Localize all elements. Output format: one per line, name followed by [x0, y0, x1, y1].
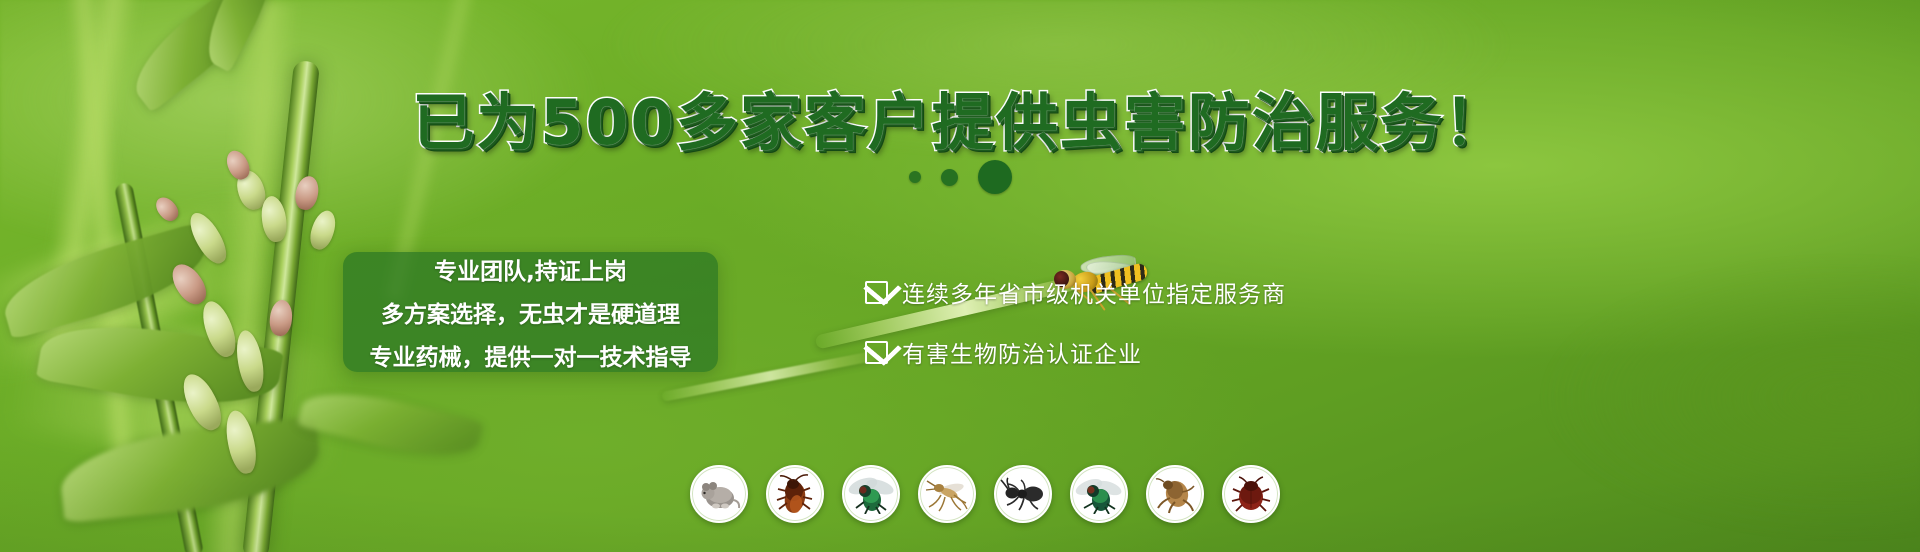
- pest-chip-cockroach[interactable]: [766, 465, 824, 523]
- ant-icon: [999, 476, 1047, 512]
- cockroach-icon: [772, 473, 818, 515]
- feature-line-3: 专业药械，提供一对一技术指导: [343, 338, 718, 372]
- pest-type-icon-row: [690, 465, 1280, 523]
- pest-chip-bedbug[interactable]: [1222, 465, 1280, 523]
- pest-chip-mouse[interactable]: [690, 465, 748, 523]
- blowfly-icon: [1075, 474, 1123, 514]
- pest-chip-mosquito[interactable]: [918, 465, 976, 523]
- large-dot-icon: [978, 160, 1012, 194]
- pest-chip-ant[interactable]: [994, 465, 1052, 523]
- checklist-item: 有害生物防治认证企业: [865, 335, 1286, 369]
- checklist-item-label: 有害生物防治认证企业: [902, 335, 1142, 369]
- checklist-item: 连续多年省市级机关单位指定服务商: [865, 275, 1286, 309]
- credentials-checklist: 连续多年省市级机关单位指定服务商 有害生物防治认证企业: [865, 275, 1286, 369]
- feature-line-2: 多方案选择，无虫才是硬道理: [343, 295, 718, 329]
- feature-highlight-box: 专业团队,持证上岗 多方案选择，无虫才是硬道理 专业药械，提供一对一技术指导: [343, 252, 718, 372]
- checkbox-check-icon: [865, 341, 888, 364]
- mouse-icon: [696, 474, 742, 514]
- checkbox-check-icon: [865, 281, 888, 304]
- fly-icon: [847, 474, 895, 514]
- flea-icon: [1153, 474, 1197, 514]
- banner-headline: 已为500多家客户提供虫害防治服务！: [0, 72, 1920, 162]
- small-dot-icon: [909, 171, 921, 183]
- feature-line-1: 专业团队,持证上岗: [343, 252, 718, 286]
- pest-chip-flea[interactable]: [1146, 465, 1204, 523]
- headline-decoration-dots: [0, 160, 1920, 194]
- medium-dot-icon: [941, 169, 958, 186]
- pest-chip-housefly[interactable]: [842, 465, 900, 523]
- mosquito-icon: [923, 473, 971, 515]
- checklist-item-label: 连续多年省市级机关单位指定服务商: [902, 275, 1286, 309]
- banner-headline-text: 已为500多家客户提供虫害防治服务！: [412, 86, 1507, 159]
- bedbug-icon: [1229, 474, 1273, 514]
- pest-chip-blowfly[interactable]: [1070, 465, 1128, 523]
- pest-control-promo-banner: 已为500多家客户提供虫害防治服务！ 专业团队,持证上岗 多方案选择，无虫才是硬…: [0, 0, 1920, 552]
